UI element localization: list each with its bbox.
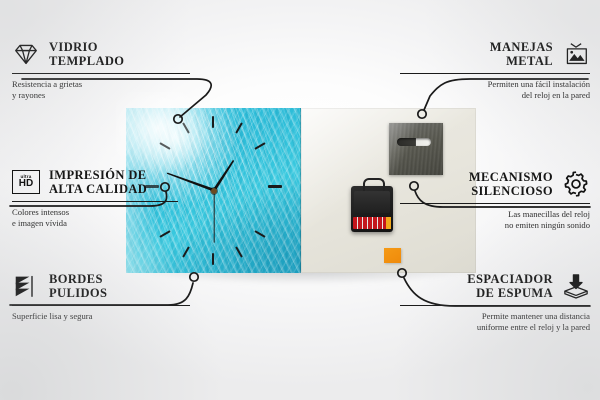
callout-title: IMPRESIÓN DE ALTA CALIDAD — [49, 168, 147, 196]
callout-subtitle: Permite mantener una distancia uniforme … — [390, 311, 590, 333]
callout-manejas-metal: MANEJAS METAL Permiten una fácil instala… — [390, 40, 590, 101]
infographic-canvas: VIDRIO TEMPLADO Resistencia a grietas y … — [0, 0, 600, 400]
second-hand — [213, 191, 214, 243]
foam-spacer-icon — [562, 274, 590, 298]
callout-title: VIDRIO TEMPLADO — [49, 40, 124, 68]
callout-mecanismo-silencioso: MECANISMO SILENCIOSO Las manecillas del … — [390, 170, 590, 231]
callout-impresion-alta-calidad: ultra HD IMPRESIÓN DE ALTA CALIDAD Color… — [12, 168, 212, 229]
quartz-mechanism — [351, 186, 393, 232]
callout-title: MECANISMO SILENCIOSO — [469, 170, 553, 198]
callout-espaciador-espuma: ESPACIADOR DE ESPUMA Permite mantener un… — [390, 272, 590, 333]
diamond-icon — [12, 42, 40, 66]
picture-hanger-icon — [562, 42, 590, 66]
ultra-hd-icon: ultra HD — [12, 170, 40, 194]
callout-rule — [12, 73, 190, 74]
tick-mark — [212, 116, 214, 128]
callout-vidrio-templado: VIDRIO TEMPLADO Resistencia a grietas y … — [12, 40, 212, 101]
callout-title: MANEJAS METAL — [490, 40, 553, 68]
callout-subtitle: Las manecillas del reloj no emiten ningú… — [390, 209, 590, 231]
metal-hanger-plate — [389, 123, 443, 175]
callout-subtitle: Superficie lisa y segura — [12, 311, 212, 322]
callout-subtitle: Colores intensos e imagen vívida — [12, 207, 212, 229]
gear-icon — [562, 172, 590, 196]
callout-rule — [400, 203, 590, 204]
ultra-hd-icon-main-text: HD — [19, 179, 33, 189]
callout-subtitle: Resistencia a grietas y rayones — [12, 79, 212, 101]
callout-rule — [12, 305, 190, 306]
callout-bordes-pulidos: BORDES PULIDOS Superficie lisa y segura — [12, 272, 212, 322]
polished-edges-icon — [12, 274, 40, 298]
tick-mark — [212, 253, 214, 265]
callout-subtitle: Permiten una fácil instalación del reloj… — [390, 79, 590, 101]
tick-mark — [268, 185, 282, 188]
mechanism-hook — [363, 178, 385, 192]
callout-title: BORDES PULIDOS — [49, 272, 107, 300]
callout-rule — [400, 305, 590, 306]
callout-rule — [400, 73, 590, 74]
mechanism-body — [354, 191, 390, 213]
hanger-slot — [397, 138, 431, 146]
foam-spacer — [384, 248, 401, 263]
callout-title: ESPACIADOR DE ESPUMA — [467, 272, 553, 300]
callout-rule — [12, 201, 178, 202]
